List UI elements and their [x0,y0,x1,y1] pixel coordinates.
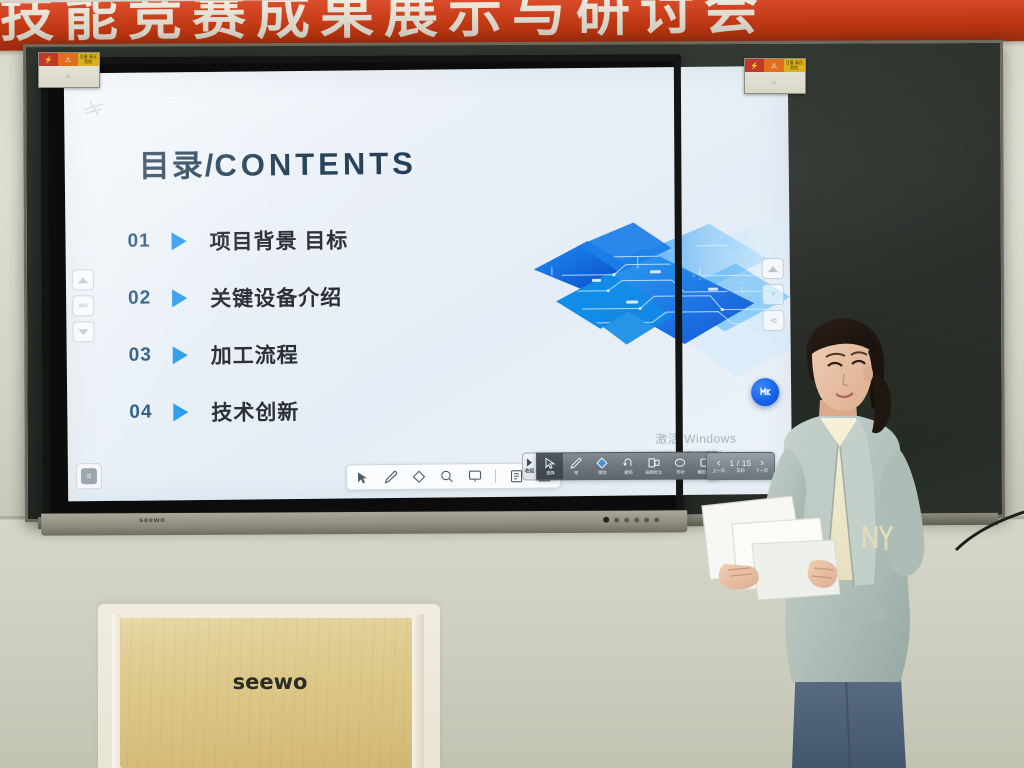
toolbar-item-board[interactable]: 画板批注 [641,453,667,479]
panel-bezel [41,54,683,519]
warning-sticker-left: ⚡ ⚠ 注意 高压危险 ⌂ [38,52,100,88]
panel-hardware-buttons[interactable] [603,516,659,522]
circle-icon [673,456,686,469]
sticker-body: ⌂ [39,66,99,88]
menu-icon[interactable]: ≡ [762,284,784,305]
undo-icon [621,456,634,469]
warning-sticker-text: 注意 高压危险 [784,59,805,72]
podium-brand-logo: seewo [120,670,420,694]
chevron-up-icon[interactable] [762,258,784,279]
podium-right-edge [412,614,424,768]
lectern-podium: seewo [98,604,440,768]
podium-wood-face: seewo [120,618,420,768]
sticker-body: ⌂ [745,72,805,94]
toolbar-item-eraser[interactable]: 擦除 [589,453,615,479]
warning-sticker-right: ⚡ ⚠ 注意 高压危险 ⌂ [744,58,806,94]
clipboard-icon [647,456,660,469]
panel-bottom-bezel: seewo [41,510,687,535]
toolbar-item-pen[interactable]: 笔 [563,453,589,479]
toolbar-item-undo[interactable]: 撤销 [615,453,641,479]
bezel-brand-label: seewo [139,517,165,524]
toolbar-item-cursor[interactable]: 选择 [537,453,563,479]
warning-sticker-text: 注意 高压危险 [78,53,99,66]
collapse-handle[interactable]: 收起 [522,452,536,480]
seewo-interactive-panel[interactable]: 目录/CONTENTS 01 项目背景 目标 02 关键设备介绍 03 加工流程 [41,54,683,519]
pen-icon [569,456,582,469]
shock-hazard-icon: ⚡ [745,59,764,72]
presenter-person [688,318,968,768]
warning-triangle-icon: ⚠ [58,53,77,66]
eraser-icon [595,456,608,469]
shock-hazard-icon: ⚡ [39,53,58,66]
warning-triangle-icon: ⚠ [764,59,783,72]
cursor-icon [543,456,556,469]
classroom-presentation-scene: 技能竞赛成果展示与研讨会 目录/CONTENTS 01 [0,0,1024,768]
